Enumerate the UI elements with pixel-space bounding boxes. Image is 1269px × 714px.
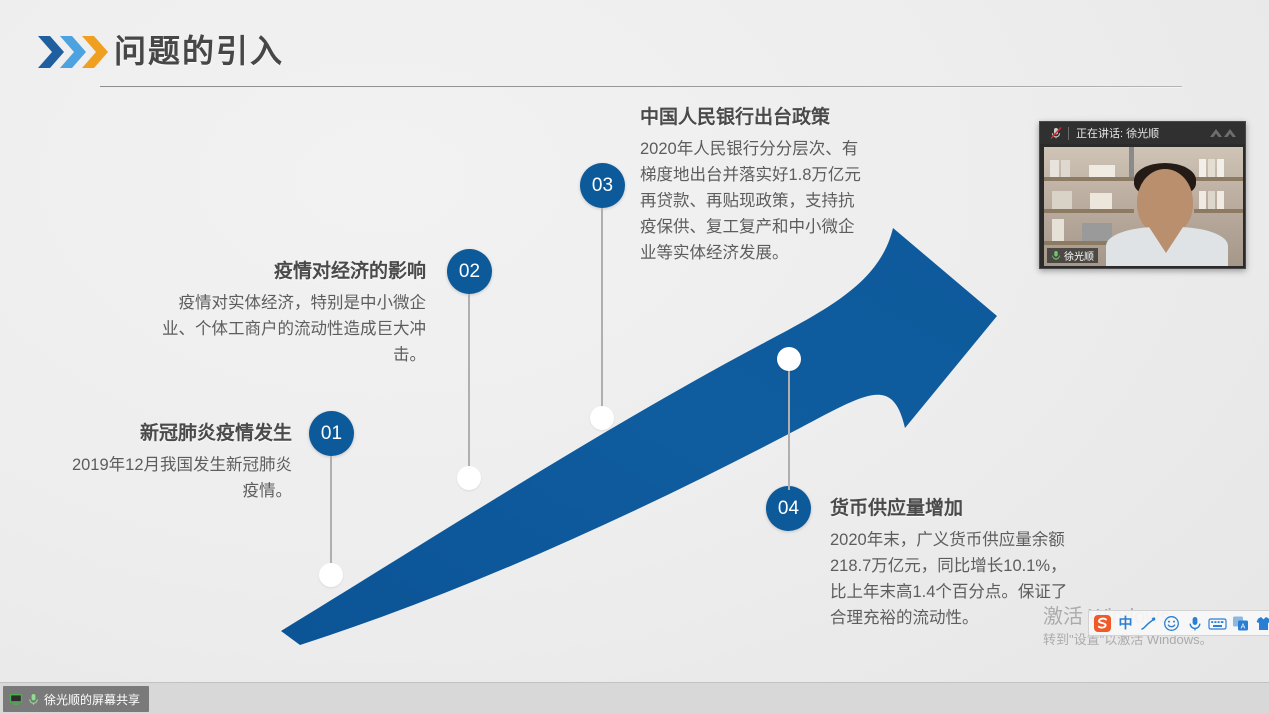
milestone-stem-04: [788, 362, 790, 490]
milestone-number: 01: [321, 423, 342, 445]
milestone-number: 02: [459, 261, 480, 283]
milestone-badge-03[interactable]: 03: [580, 163, 625, 208]
milestone-text-03: 中国人民银行出台政策 2020年人民银行分分层次、有梯度地出台并落实好1.8万亿…: [640, 102, 866, 266]
shelf-board: [1194, 177, 1243, 181]
page-title: 问题的引入: [114, 26, 284, 72]
shelf-board: [1044, 209, 1134, 213]
shelf-post: [1129, 147, 1134, 177]
sogou-logo-icon[interactable]: [1092, 613, 1113, 634]
milestone-body: 2020年人民银行分分层次、有梯度地出台并落实好1.8万亿元再贷款、再贴现政策，…: [640, 136, 866, 266]
shelf-item: [1217, 159, 1224, 177]
milestone-stem-01: [330, 456, 332, 575]
shelf-item: [1090, 193, 1112, 209]
shelf-item: [1208, 191, 1215, 209]
translate-icon[interactable]: A: [1230, 613, 1251, 634]
person-head: [1137, 169, 1193, 235]
shelf-item: [1089, 165, 1115, 177]
header-separator: [1068, 127, 1069, 140]
milestone-body: 2019年12月我国发生新冠肺炎疫情。: [60, 452, 292, 504]
mic-icon: [28, 693, 39, 706]
shelf-item: [1208, 159, 1215, 177]
shelf-item: [1050, 160, 1059, 177]
milestone-text-02: 疫情对经济的影响 疫情对实体经济，特别是中小微企业、个体工商户的流动性造成巨大冲…: [160, 256, 426, 368]
milestone-heading: 中国人民银行出台政策: [640, 102, 866, 129]
speaking-label: 正在讲话: 徐光顺: [1076, 125, 1159, 141]
mic-muted-icon[interactable]: [1049, 126, 1063, 140]
milestone-dot-04: [777, 347, 801, 371]
taskbar: 徐光顺的屏幕共享: [0, 682, 1269, 714]
video-feed[interactable]: 徐光顺: [1044, 147, 1243, 266]
milestone-stem-03: [601, 208, 603, 424]
shelf-item: [1199, 159, 1206, 177]
milestone-dot-02: [457, 466, 481, 490]
shelf-item: [1217, 191, 1224, 209]
sogou-ime-toolbar[interactable]: 中: [1088, 610, 1269, 636]
milestone-heading: 疫情对经济的影响: [160, 256, 426, 283]
milestone-body: 疫情对实体经济，特别是中小微企业、个体工商户的流动性造成巨大冲击。: [160, 290, 426, 368]
emoji-icon[interactable]: [1161, 613, 1182, 634]
title-divider: [100, 86, 1182, 88]
participant-name: 徐光顺: [1064, 248, 1094, 263]
milestone-stem-02: [468, 294, 470, 484]
screen-share-indicator[interactable]: 徐光顺的屏幕共享: [3, 686, 149, 712]
shelf-board: [1044, 177, 1134, 181]
svg-text:A: A: [1241, 623, 1246, 630]
milestone-badge-02[interactable]: 02: [447, 249, 492, 294]
chevron-decoration-icon: [36, 30, 116, 74]
shelf-item: [1052, 219, 1064, 241]
share-label: 徐光顺的屏幕共享: [44, 691, 140, 708]
milestone-badge-04[interactable]: 04: [766, 486, 811, 531]
video-conference-panel[interactable]: 正在讲话: 徐光顺: [1039, 121, 1246, 269]
presentation-slide: 问题的引入 01 新冠肺炎疫情发生 2019年12月我国发生新冠肺炎疫情。 02: [0, 0, 1269, 714]
shelf-item: [1082, 223, 1112, 241]
voice-input-icon[interactable]: [1184, 613, 1205, 634]
participant-name-tag: 徐光顺: [1047, 248, 1098, 263]
milestone-body: 2020年末，广义货币供应量余额218.7万亿元，同比增长10.1%，比上年末高…: [830, 527, 1076, 631]
milestone-number: 04: [778, 498, 799, 520]
milestone-number: 03: [592, 175, 613, 197]
milestone-text-04: 货币供应量增加 2020年末，广义货币供应量余额218.7万亿元，同比增长10.…: [830, 493, 1076, 631]
milestone-badge-01[interactable]: 01: [309, 411, 354, 456]
milestone-dot-01: [319, 563, 343, 587]
skin-shirt-icon[interactable]: [1253, 613, 1269, 634]
shelf-board: [1194, 209, 1243, 213]
milestone-heading: 货币供应量增加: [830, 493, 1076, 520]
milestone-text-01: 新冠肺炎疫情发生 2019年12月我国发生新冠肺炎疫情。: [60, 418, 292, 504]
app-logo-icon: [1209, 126, 1239, 139]
shelf-item: [1061, 160, 1070, 177]
soft-keyboard-icon[interactable]: [1207, 613, 1228, 634]
chinese-mode-icon[interactable]: 中: [1115, 613, 1136, 634]
milestone-heading: 新冠肺炎疫情发生: [60, 418, 292, 445]
screen-share-icon: [9, 693, 23, 706]
handwriting-pen-icon[interactable]: [1138, 613, 1159, 634]
shelf-item: [1052, 191, 1072, 209]
video-panel-header: 正在讲话: 徐光顺: [1040, 122, 1245, 144]
milestone-dot-03: [590, 406, 614, 430]
shelf-item: [1199, 191, 1206, 209]
slide-header: 问题的引入: [0, 0, 1269, 95]
mic-active-icon: [1051, 250, 1061, 261]
